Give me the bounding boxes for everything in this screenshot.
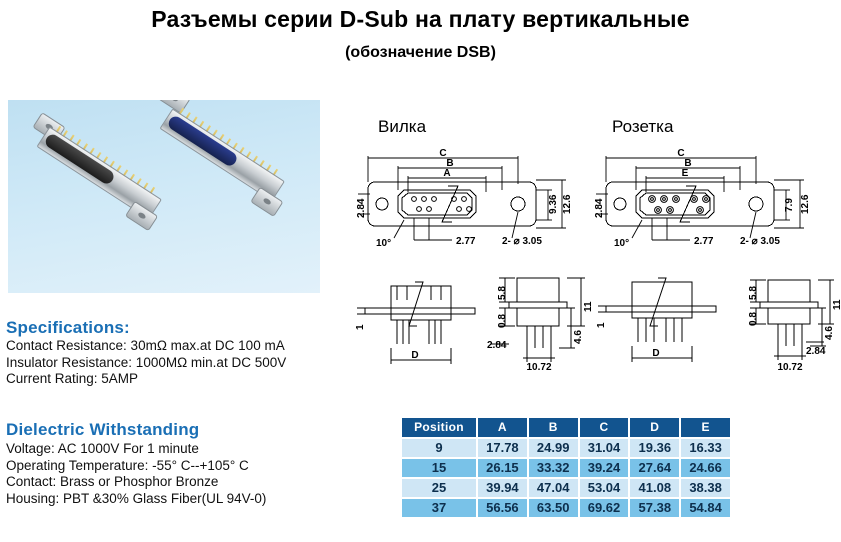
table-row: 25 39.94 47.04 53.04 41.08 38.38 [402, 479, 730, 497]
dielectric-heading: Dielectric Withstanding [6, 420, 199, 440]
dim-holes: 2- ⌀ 3.05 [502, 236, 542, 247]
column-header-a: A [478, 418, 527, 437]
cell-a: 56.56 [478, 499, 527, 517]
plug-front-view-drawing: C B A 2.84 9.36 12.6 10° 2.77 2- ⌀ 3.05 [352, 146, 592, 256]
column-header-e: E [681, 418, 730, 437]
column-header-b: B [529, 418, 578, 437]
cell-a: 17.78 [478, 439, 527, 457]
connector-female-image [114, 100, 318, 267]
page-title: Разъемы серии D-Sub на плату вертикальны… [0, 6, 841, 33]
cell-b: 24.99 [529, 439, 578, 457]
cell-d: 41.08 [630, 479, 679, 497]
cell-position: 15 [402, 459, 476, 477]
table-row: 37 56.56 63.50 69.62 57.38 54.84 [402, 499, 730, 517]
cell-c: 39.24 [580, 459, 629, 477]
spec-line: Insulator Resistance: 1000MΩ min.at DC 5… [6, 355, 286, 372]
dim-low: 0.8 [497, 314, 508, 328]
dim-span: 10.72 [526, 362, 551, 373]
cell-e: 16.33 [681, 439, 730, 457]
dim-thickness: 1 [355, 324, 366, 330]
cell-e: 24.66 [681, 459, 730, 477]
dim-pin: 4.6 [573, 330, 584, 344]
dim-thickness: 1 [596, 322, 607, 328]
cell-a: 26.15 [478, 459, 527, 477]
cell-position: 9 [402, 439, 476, 457]
dim-height-left: 2.84 [594, 198, 605, 218]
cell-b: 63.50 [529, 499, 578, 517]
dim-total: 11 [832, 299, 840, 310]
cell-d: 57.38 [630, 499, 679, 517]
cell-d: 19.36 [630, 439, 679, 457]
dim-top: 5.8 [748, 286, 759, 300]
cell-c: 69.62 [580, 499, 629, 517]
dim-pitch: 2.77 [456, 236, 476, 247]
dim-top: 5.8 [497, 286, 508, 300]
column-header-c: C [580, 418, 629, 437]
cell-position: 25 [402, 479, 476, 497]
dielectric-line: Housing: PBT &30% Glass Fiber(UL 94V-0) [6, 491, 266, 508]
cell-position: 37 [402, 499, 476, 517]
dim-angle: 10° [614, 238, 629, 249]
table-row: 15 26.15 33.32 39.24 27.64 24.66 [402, 459, 730, 477]
dimension-table: Position A B C D E 9 17.78 24.99 31.04 1… [400, 416, 732, 519]
dim-holes: 2- ⌀ 3.05 [740, 236, 780, 247]
cell-c: 53.04 [580, 479, 629, 497]
cell-b: 47.04 [529, 479, 578, 497]
spec-line: Contact Resistance: 30mΩ max.at DC 100 m… [6, 338, 286, 355]
dielectric-line: Contact: Brass or Phosphor Bronze [6, 474, 266, 491]
page-subtitle: (обозначение DSB) [0, 44, 841, 62]
dim-inner-height: 9.36 [548, 194, 559, 214]
socket-front-view-drawing: C B E 2.84 7.9 12.6 10° 2.77 2- ⌀ 3.05 [590, 146, 835, 256]
specifications-heading: Specifications: [6, 318, 130, 338]
dim-total: 11 [583, 301, 594, 312]
dim-pin: 4.6 [824, 326, 835, 340]
product-photo [8, 100, 320, 293]
column-header-d: D [630, 418, 679, 437]
dim-outer-height: 12.6 [562, 194, 573, 214]
socket-side-view-drawing: D 1 [596, 268, 726, 374]
dielectric-line: Operating Temperature: -55° C--+105° C [6, 458, 266, 475]
cell-c: 31.04 [580, 439, 629, 457]
dim-a: A [443, 168, 450, 179]
dielectric-list: Voltage: AC 1000V For 1 minute Operating… [6, 441, 266, 507]
cell-a: 39.94 [478, 479, 527, 497]
socket-end-view-drawing: 5.8 0.8 11 4.6 2.84 10.72 [740, 268, 840, 374]
spec-line: Current Rating: 5AMP [6, 371, 286, 388]
cell-e: 38.38 [681, 479, 730, 497]
cell-b: 33.32 [529, 459, 578, 477]
dim-base: 2.84 [487, 340, 507, 351]
dim-pitch: 2.77 [694, 236, 714, 247]
dim-e: E [682, 168, 689, 179]
dim-inner-height: 7.9 [784, 198, 795, 212]
dim-outer-height: 12.6 [800, 194, 811, 214]
cell-d: 27.64 [630, 459, 679, 477]
dielectric-line: Voltage: AC 1000V For 1 minute [6, 441, 266, 458]
socket-drawing-label: Розетка [612, 117, 673, 137]
plug-drawing-label: Вилка [378, 117, 426, 137]
dim-height-left: 2.84 [356, 198, 367, 218]
dim-span: 10.72 [777, 362, 802, 373]
specifications-list: Contact Resistance: 30mΩ max.at DC 100 m… [6, 338, 286, 388]
cell-e: 54.84 [681, 499, 730, 517]
dim-angle: 10° [376, 238, 391, 249]
table-header-row: Position A B C D E [402, 418, 730, 437]
dim-width-d: D [652, 348, 659, 359]
table-row: 9 17.78 24.99 31.04 19.36 16.33 [402, 439, 730, 457]
dim-low: 0.8 [748, 312, 759, 326]
column-header-position: Position [402, 418, 476, 437]
plug-end-view-drawing: 5.8 0.8 11 4.6 2.84 10.72 [487, 268, 595, 374]
plug-side-view-drawing: D 1 [355, 268, 485, 374]
dim-width-d: D [411, 350, 418, 361]
dim-base: 2.84 [806, 346, 826, 357]
